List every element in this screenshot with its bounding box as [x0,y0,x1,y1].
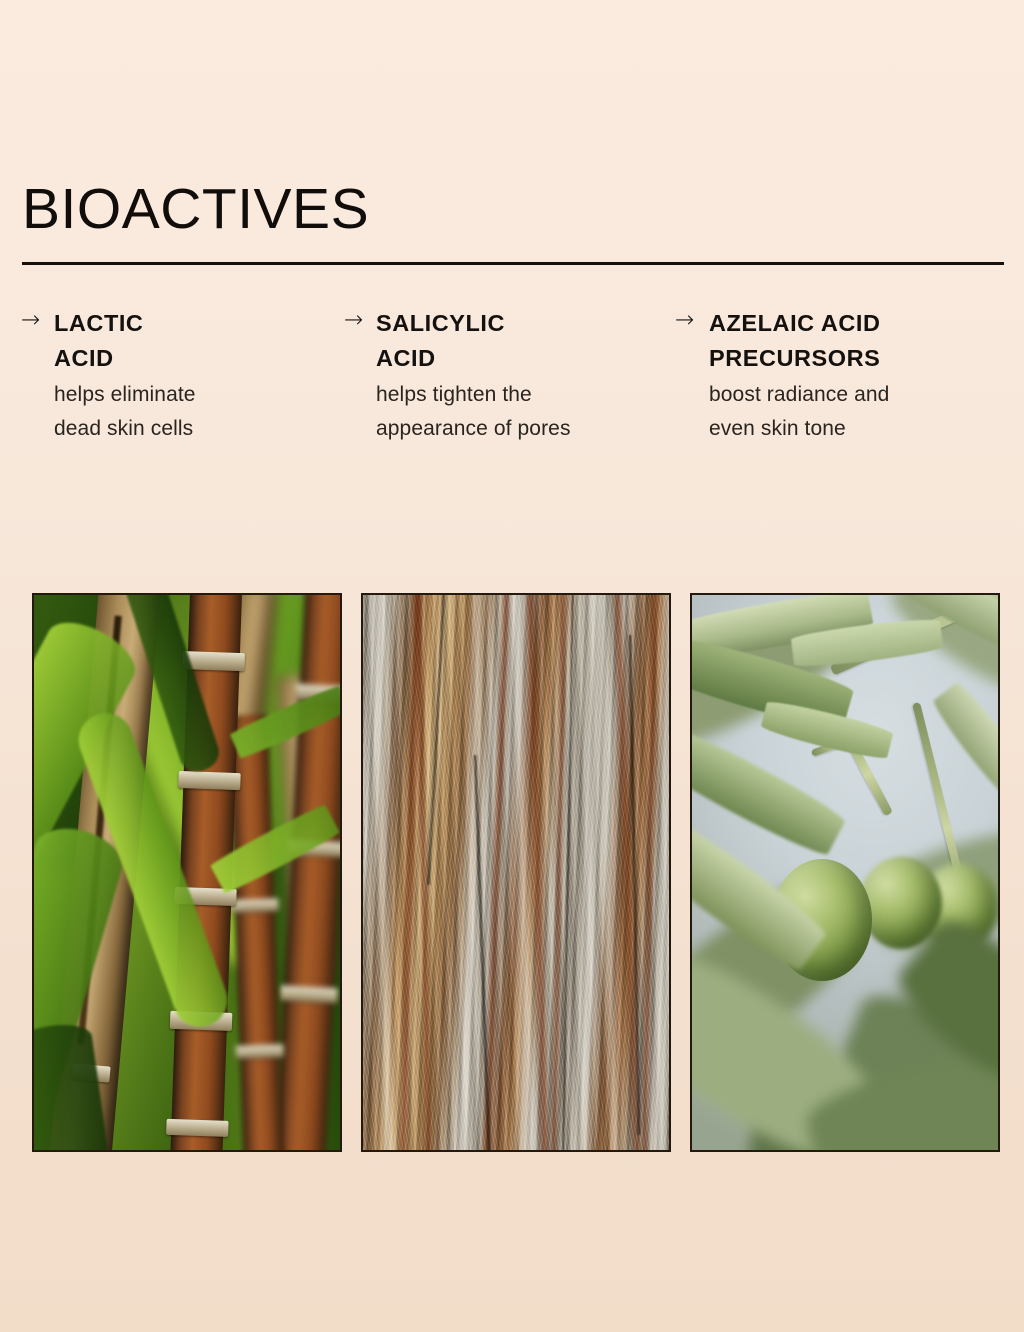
bioactive-text-block: SALICYLIC ACID helps tighten the appeara… [376,306,670,444]
cane-node [230,898,278,913]
bioactive-desc-line-2: dead skin cells [54,413,340,444]
bioactive-name-line-2: PRECURSORS [709,341,1010,376]
bioactive-desc-line-1: helps eliminate [54,379,340,410]
ingredient-image-row [32,593,1000,1152]
olive-branch-photo [692,595,998,1150]
bioactive-text-block: LACTIC ACID helps eliminate dead skin ce… [54,306,340,444]
bioactive-item-salicylic-acid: → SALICYLIC ACID helps tighten the appea… [340,306,670,444]
bioactive-name-line-1: AZELAIC ACID [709,306,1010,341]
ingredient-image-willow-bark [361,593,671,1152]
willow-bark-photo [363,595,669,1150]
bioactive-desc-line-2: appearance of pores [376,413,670,444]
bioactive-name-line-2: ACID [54,341,340,376]
ingredient-image-olives [690,593,1000,1152]
cane-node [178,771,241,790]
bioactive-item-lactic-acid: → LACTIC ACID helps eliminate dead skin … [0,306,340,444]
bark-grain-overlay [363,595,669,1150]
page-title: BIOACTIVES [22,178,1004,240]
arrow-right-icon: → [21,306,54,334]
olive-fruit [860,857,942,949]
sugarcane-photo [34,595,340,1150]
title-divider [22,262,1004,265]
cane-node [236,1044,284,1059]
bioactives-list: → LACTIC ACID helps eliminate dead skin … [0,306,1024,444]
bioactive-desc-line-1: boost radiance and [709,379,1010,410]
header-block: BIOACTIVES [22,178,1004,265]
bioactive-name-line-2: ACID [376,341,670,376]
bioactive-name-line-1: SALICYLIC [376,306,670,341]
bioactive-desc-line-2: even skin tone [709,413,1010,444]
bottom-background-area [0,1152,1024,1332]
arrow-right-icon: → [675,306,709,334]
cane-node [279,985,338,1003]
bioactive-text-block: AZELAIC ACID PRECURSORS boost radiance a… [709,306,1010,444]
arrow-right-icon: → [344,306,376,334]
bioactive-name-line-1: LACTIC [54,306,340,341]
bioactive-desc-line-1: helps tighten the [376,379,670,410]
cane-node [166,1119,229,1137]
bioactive-item-azelaic-acid-precursors: → AZELAIC ACID PRECURSORS boost radiance… [670,306,1010,444]
ingredient-image-sugarcane [32,593,342,1152]
